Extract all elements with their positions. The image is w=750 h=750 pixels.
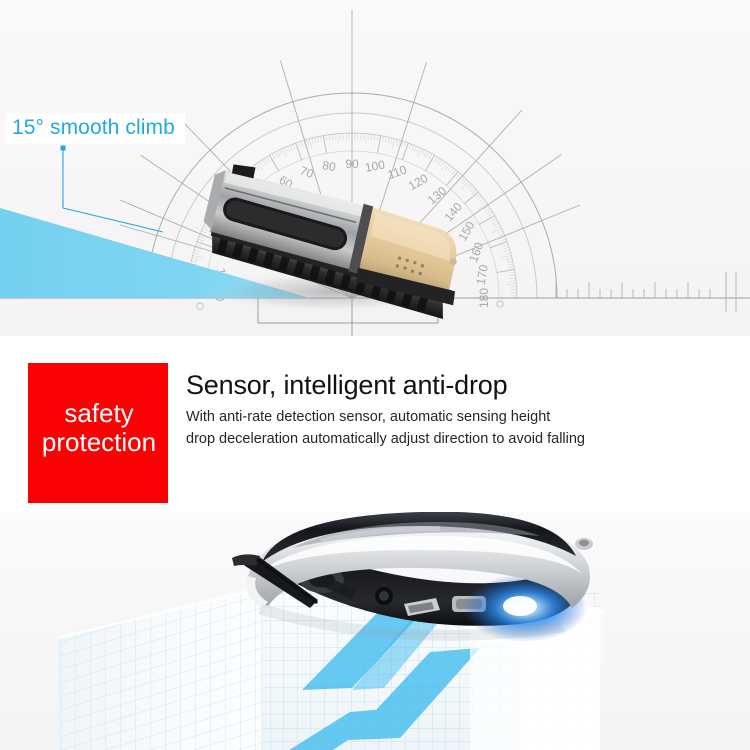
protractor-degree-label: 170	[474, 263, 491, 285]
climb-angle-callout: 15° smooth climb	[6, 113, 185, 144]
protractor-degree-label: 110	[386, 162, 409, 182]
protractor-degree-label: 90	[345, 157, 359, 171]
safety-badge-text: safety protection	[24, 399, 174, 457]
protractor-degree-label: 70	[298, 163, 316, 181]
safety-body-line-2: drop deceleration automatically adjust d…	[186, 429, 726, 450]
protractor-degree-label: 120	[406, 171, 431, 193]
safety-copy-block: Sensor, intelligent anti-drop With anti-…	[186, 370, 726, 450]
safety-badge-line-2: protection	[24, 428, 174, 457]
protractor-degree-label: 160	[466, 240, 486, 264]
protractor-degree-label: 130	[425, 183, 450, 207]
product-feature-page: 0105060708090100110120130140150160170180	[0, 0, 750, 750]
robot-vacuum-on-box-graphic	[0, 512, 750, 750]
anti-drop-photo	[0, 512, 750, 750]
climb-angle-illustration: 0105060708090100110120130140150160170180	[0, 0, 750, 336]
protractor-degree-label: 100	[364, 157, 386, 174]
safety-protection-badge: safety protection	[28, 363, 168, 503]
safety-protection-section: safety protection Sensor, intelligent an…	[0, 336, 750, 512]
protractor-degree-label: 80	[321, 158, 337, 174]
protractor-graphic: 0105060708090100110120130140150160170180	[0, 0, 750, 336]
protractor-degree-label: 150	[455, 219, 477, 244]
safety-body-line-1: With anti-rate detection sensor, automat…	[186, 407, 726, 428]
safety-heading: Sensor, intelligent anti-drop	[186, 370, 726, 400]
protractor-degree-label: 140	[441, 200, 465, 225]
safety-badge-line-1: safety	[24, 399, 174, 428]
